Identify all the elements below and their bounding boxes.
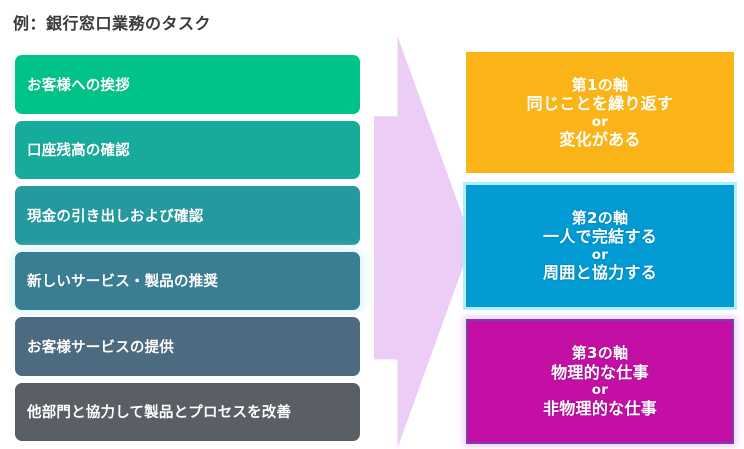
axis-conjunction: or: [592, 382, 609, 398]
axis-name: 第2の軸: [572, 209, 629, 227]
axis-card-1[interactable]: 第1の軸 同じことを繰り返す or 変化がある: [466, 52, 734, 173]
axis-conjunction: or: [592, 247, 609, 263]
task-item-6[interactable]: 他部門と協力して製品とプロセスを改善: [15, 383, 360, 442]
axis-pole-a: 一人で完結する: [543, 227, 657, 247]
task-label: 新しいサービス・製品の推奨: [27, 270, 218, 291]
task-label: 口座残高の確認: [27, 139, 130, 160]
task-item-5[interactable]: お客様サービスの提供: [15, 317, 360, 376]
task-label: お客様への挨拶: [27, 74, 130, 95]
axis-card-3[interactable]: 第3の軸 物理的な仕事 or 非物理的な仕事: [466, 319, 734, 444]
axis-pole-b: 変化がある: [559, 130, 641, 150]
task-label: お客様サービスの提供: [27, 336, 174, 357]
page-title: 例：銀行窓口業務のタスク: [13, 10, 211, 34]
task-item-1[interactable]: お客様への挨拶: [15, 55, 360, 114]
slide-canvas: 例：銀行窓口業務のタスク お客様への挨拶 口座残高の確認 現金の引き出しおよび確…: [0, 0, 744, 449]
axis-pole-a: 物理的な仕事: [551, 363, 649, 383]
axis-pole-a: 同じことを繰り返す: [527, 94, 674, 114]
task-item-3[interactable]: 現金の引き出しおよび確認: [15, 186, 360, 245]
axis-name: 第3の軸: [572, 344, 629, 362]
task-item-2[interactable]: 口座残高の確認: [15, 121, 360, 180]
axis-pole-b: 周囲と協力する: [543, 263, 657, 283]
axis-card-2[interactable]: 第2の軸 一人で完結する or 周囲と協力する: [466, 185, 734, 306]
right-arrow-icon: [374, 36, 472, 448]
axis-pole-b: 非物理的な仕事: [543, 399, 657, 419]
task-item-4[interactable]: 新しいサービス・製品の推奨: [15, 252, 360, 311]
axis-stack: 第1の軸 同じことを繰り返す or 変化がある 第2の軸 一人で完結する or …: [466, 52, 734, 444]
task-list: お客様への挨拶 口座残高の確認 現金の引き出しおよび確認 新しいサービス・製品の…: [15, 55, 360, 441]
task-label: 現金の引き出しおよび確認: [27, 205, 203, 226]
axis-conjunction: or: [592, 114, 609, 130]
task-label: 他部門と協力して製品とプロセスを改善: [27, 401, 291, 422]
axis-name: 第1の軸: [572, 76, 629, 94]
